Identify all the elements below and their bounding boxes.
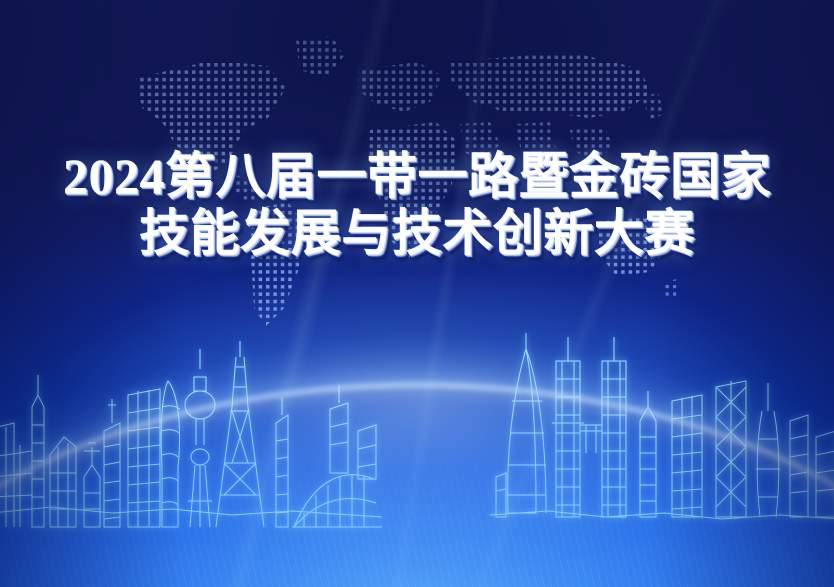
center-light-glow [37, 257, 797, 557]
banner-title: 2024第八届一带一路暨金砖国家 技能发展与技术创新大赛 [0, 148, 834, 262]
title-line-2: 技能发展与技术创新大赛 [0, 205, 834, 262]
event-banner: 2024第八届一带一路暨金砖国家 技能发展与技术创新大赛 [0, 0, 834, 587]
title-line-1: 2024第八届一带一路暨金砖国家 [0, 148, 834, 205]
